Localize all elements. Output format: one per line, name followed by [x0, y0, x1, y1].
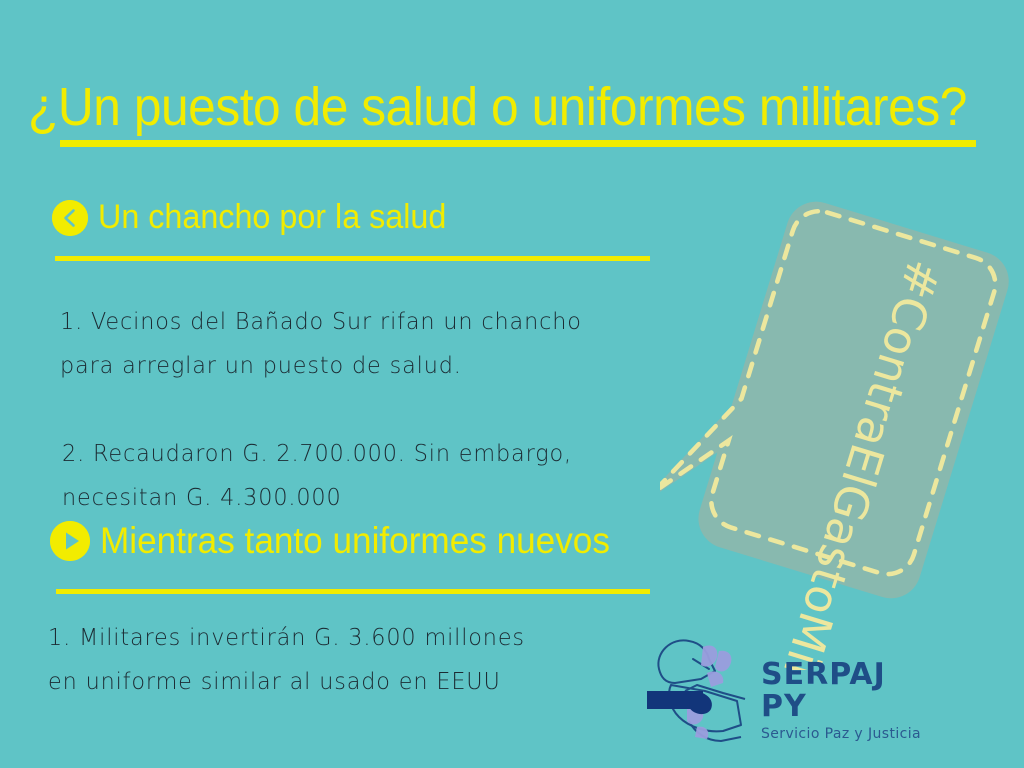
section-divider-1 — [55, 256, 650, 261]
section-header-2: Mientras tanto uniformes nuevos — [50, 520, 637, 562]
section-header-1: Un chancho por la salud — [52, 198, 465, 237]
hands-dove-icon — [645, 629, 757, 747]
section-label-1: Un chancho por la salud — [98, 198, 446, 237]
section-1-item-2: 2. Recaudaron G. 2.700.000. Sin embargo,… — [62, 432, 572, 520]
chevron-left-circle-icon — [52, 200, 88, 236]
section-1-item-1: 1. Vecinos del Bañado Sur rifan un chanc… — [60, 300, 582, 388]
title-underline — [60, 140, 976, 147]
hashtag-text: #ContraElGastoMilitar — [750, 253, 951, 670]
logo-wordmark: SERPAJ PY Servicio Paz y Justicia — [761, 633, 935, 743]
section-label-2: Mientras tanto uniformes nuevos — [100, 520, 610, 562]
logo-title: SERPAJ PY — [761, 659, 935, 723]
serpaj-logo: SERPAJ PY Servicio Paz y Justicia — [645, 628, 935, 748]
section-divider-2 — [56, 589, 650, 594]
section-2-item-1: 1. Militares invertirán G. 3.600 millone… — [48, 616, 525, 704]
slide-canvas: ¿Un puesto de salud o uniformes militare… — [0, 0, 1024, 768]
logo-tagline: Servicio Paz y Justicia — [761, 725, 935, 743]
page-title: ¿Un puesto de salud o uniformes militare… — [28, 78, 967, 136]
play-circle-icon — [50, 521, 90, 561]
hashtag-speech-bubble: #ContraElGastoMilitar — [660, 150, 1020, 670]
